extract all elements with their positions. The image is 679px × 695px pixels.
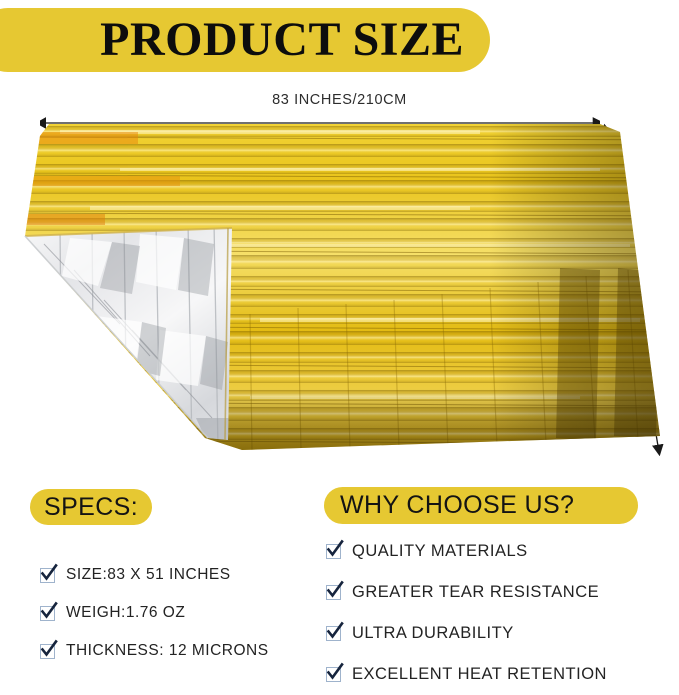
list-item: EXCELLENT HEAT RETENTION <box>326 654 676 695</box>
list-item-label: THICKNESS: 12 MICRONS <box>66 643 269 659</box>
page-title: PRODUCT SIZE <box>100 16 464 64</box>
checkbox-checked-icon <box>326 626 341 641</box>
list-item: SIZE:83 X 51 INCHES <box>40 556 330 594</box>
list-item: QUALITY MATERIALS <box>326 531 676 572</box>
list-item: WEIGH:1.76 OZ <box>40 594 330 632</box>
checkbox-checked-icon <box>326 585 341 600</box>
why-choose-us-list: QUALITY MATERIALS GREATER TEAR RESISTANC… <box>326 531 676 695</box>
product-photo-emergency-blanket <box>0 118 679 463</box>
page-title-banner: PRODUCT SIZE <box>0 8 490 72</box>
specs-heading-pill: SPECS: <box>30 489 152 525</box>
list-item-label: GREATER TEAR RESISTANCE <box>352 584 599 601</box>
specs-list: SIZE:83 X 51 INCHES WEIGH:1.76 OZ THICKN… <box>40 556 330 670</box>
width-dimension-label: 83 INCHES/210CM <box>0 92 679 108</box>
checkbox-checked-icon <box>326 667 341 682</box>
list-item-label: WEIGH:1.76 OZ <box>66 605 185 621</box>
list-item-label: QUALITY MATERIALS <box>352 543 528 560</box>
checkbox-checked-icon <box>40 568 55 583</box>
why-choose-us-heading-label: WHY CHOOSE US? <box>340 493 574 518</box>
list-item: GREATER TEAR RESISTANCE <box>326 572 676 613</box>
list-item-label: EXCELLENT HEAT RETENTION <box>352 666 607 683</box>
checkbox-checked-icon <box>326 544 341 559</box>
list-item-label: SIZE:83 X 51 INCHES <box>66 567 231 583</box>
why-choose-us-heading-pill: WHY CHOOSE US? <box>324 487 638 524</box>
list-item: ULTRA DURABILITY <box>326 613 676 654</box>
list-item: THICKNESS: 12 MICRONS <box>40 632 330 670</box>
checkbox-checked-icon <box>40 644 55 659</box>
checkbox-checked-icon <box>40 606 55 621</box>
list-item-label: ULTRA DURABILITY <box>352 625 514 642</box>
specs-heading-label: SPECS: <box>44 495 138 520</box>
